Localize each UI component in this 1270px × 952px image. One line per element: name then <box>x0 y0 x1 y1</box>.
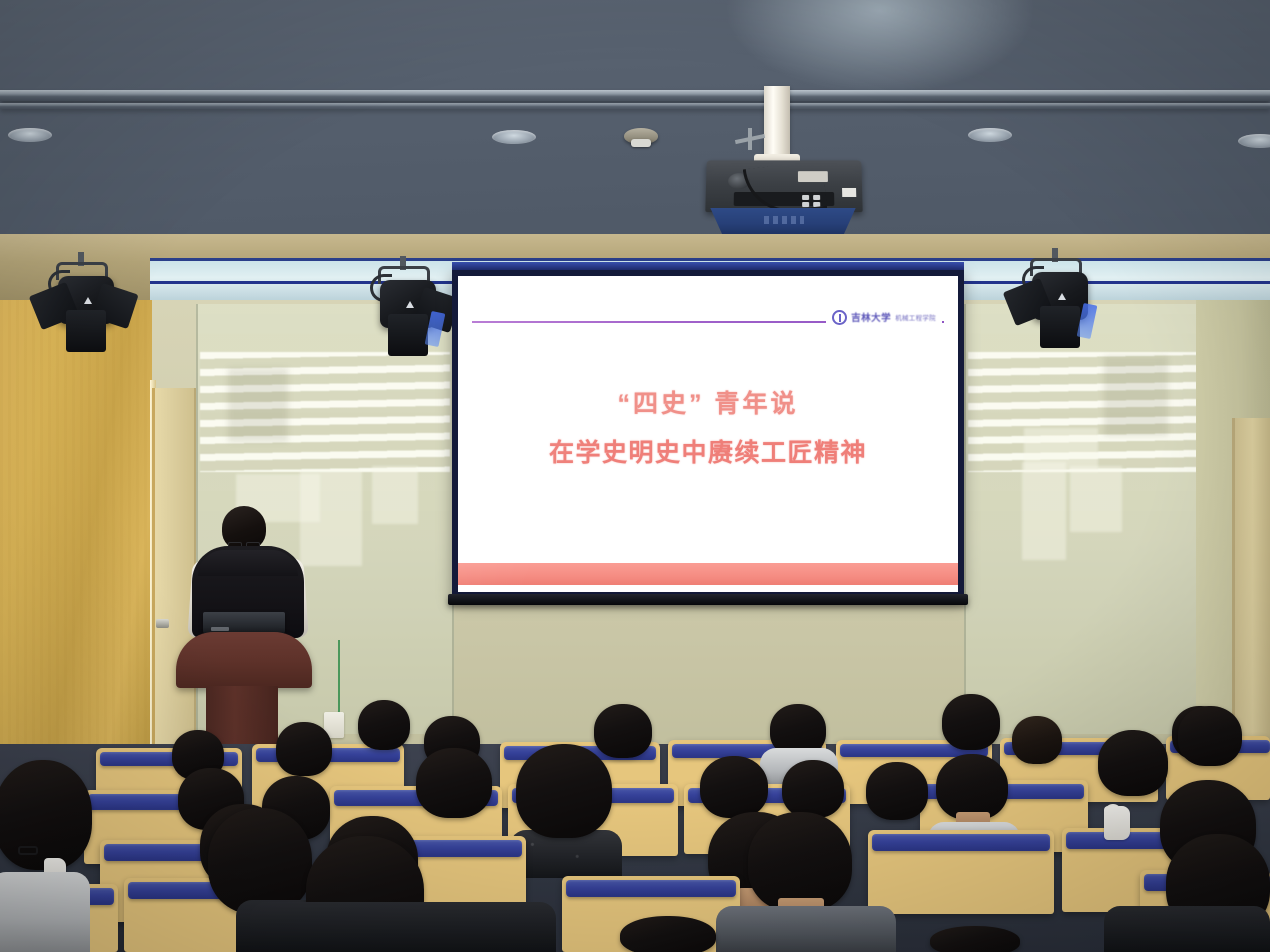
presentation-slide: 吉林大学 机械工程学院 “四史” 青年说 在学史明史中赓续工匠精神 <box>458 276 958 592</box>
door-left[interactable] <box>152 388 196 756</box>
audience-head <box>1178 706 1242 766</box>
podium-top <box>176 632 312 688</box>
audience-head <box>1098 730 1168 796</box>
audience-head-foreground <box>0 760 92 870</box>
presenter-shoulders <box>198 550 298 576</box>
logo-department-name: 机械工程学院 <box>895 312 936 322</box>
seat-cushion[interactable] <box>872 834 1050 851</box>
audience-head <box>866 762 928 820</box>
ceiling-hook-icon <box>735 128 765 150</box>
door-right[interactable] <box>1232 418 1270 758</box>
ceiling-light-fixture <box>968 128 1012 142</box>
wood-panel-wall-left <box>0 300 152 800</box>
audience-head <box>782 760 844 818</box>
audience-torso <box>0 872 90 952</box>
screen-bottom-weight-bar <box>448 594 968 605</box>
audience-head <box>700 756 768 818</box>
ceiling-light-fixture <box>8 128 52 142</box>
audience-head <box>276 722 332 776</box>
glass-reflection <box>1022 462 1066 560</box>
logo-institution-name: 吉林大学 <box>851 310 891 324</box>
glass-reflection <box>300 470 362 566</box>
audience-head <box>416 748 492 818</box>
slide-title-line-1: “四史” 青年说 <box>458 386 958 424</box>
smoke-detector-icon <box>624 128 658 144</box>
projector-mount-pole <box>764 86 790 164</box>
barn-door-icon <box>66 310 106 352</box>
audience-head-foreground <box>930 926 1020 952</box>
seat-cushion[interactable] <box>566 880 736 897</box>
ceiling <box>0 0 1270 250</box>
ceiling-rail-secondary <box>0 103 1270 109</box>
ceiling-light-fixture <box>492 130 536 144</box>
wall-shadow <box>1104 356 1168 436</box>
presenter-laptop[interactable] <box>203 612 285 634</box>
ceiling-rail <box>0 90 1270 101</box>
audience-head <box>516 744 612 838</box>
projector-side-label <box>842 188 856 197</box>
audience-head <box>594 704 652 758</box>
barn-door-icon <box>388 314 428 356</box>
door-handle-icon[interactable] <box>156 619 169 628</box>
projector-base <box>704 208 862 236</box>
audience-head-foreground <box>208 808 312 914</box>
audience-torso-foreground <box>250 902 556 952</box>
audience-torso <box>716 906 896 952</box>
glass-reflection <box>1070 466 1122 532</box>
wall-shadow <box>228 368 288 442</box>
audience-head <box>942 694 1000 750</box>
audience-head-foreground <box>748 812 852 912</box>
barn-door-icon <box>1040 306 1080 348</box>
face-mask-strap <box>1106 804 1120 814</box>
audience-head <box>1012 716 1062 764</box>
university-logo: 吉林大学 机械工程学院 <box>826 306 942 328</box>
glass-reflection <box>372 466 418 524</box>
audience-glasses-icon <box>18 846 38 855</box>
audience-head-foreground <box>620 916 716 952</box>
slide-title-block: “四史” 青年说 在学史明史中赓续工匠精神 <box>458 386 958 477</box>
audience-torso <box>1104 906 1270 952</box>
audience-head <box>358 700 410 750</box>
slide-title-line-2: 在学史明史中赓续工匠精神 <box>458 430 958 478</box>
slide-bottom-band <box>458 563 958 585</box>
logo-mark-icon <box>832 310 847 325</box>
lecture-hall-scene: 学院 研究 生学 术活 动 月 机械学院研究生学术活动月 <box>0 0 1270 952</box>
audience-head <box>936 754 1008 820</box>
projector-vents <box>764 216 804 224</box>
